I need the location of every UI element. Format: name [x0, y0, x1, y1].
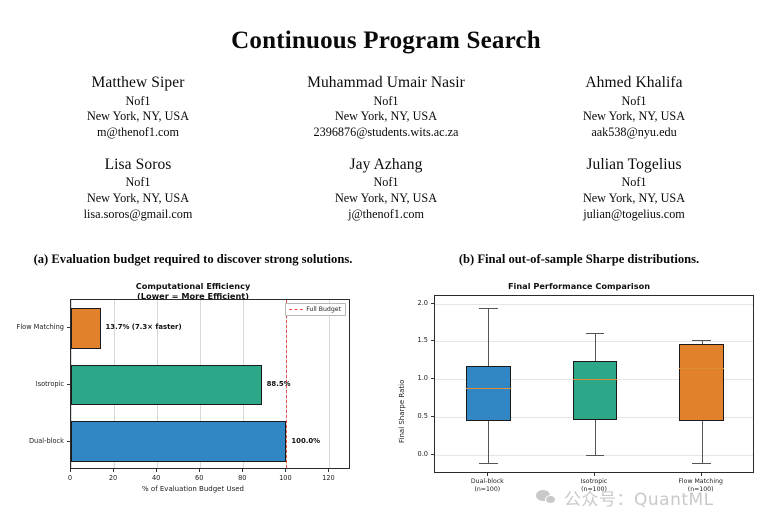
author-location: New York, NY, USA [262, 109, 510, 125]
chart-b-plot-area [434, 295, 754, 473]
chart-b-xtick [487, 473, 488, 476]
chart-a-xtick-label: 80 [238, 474, 246, 482]
chart-b-cap-lower [479, 463, 498, 464]
author-name: Julian Togelius [510, 155, 758, 175]
chart-b-whisker-lower [595, 420, 596, 455]
chart-a-ytick [67, 327, 70, 328]
author-block: Jay Azhang Nof1 New York, NY, USA j@then… [262, 155, 510, 223]
author-location: New York, NY, USA [14, 109, 262, 125]
chart-a-gridline [329, 300, 330, 468]
figure-b-caption: (b) Final out-of-sample Sharpe distribut… [386, 252, 772, 267]
chart-b-ytick [431, 303, 434, 304]
chart-a-category-label: Flow Matching [2, 323, 64, 331]
author-name: Matthew Siper [14, 73, 262, 93]
chart-b-median-line [573, 379, 618, 380]
author-name: Muhammad Umair Nasir [262, 73, 510, 93]
chart-b-category-count: (n=100) [549, 486, 639, 494]
author-affiliation: Nof1 [262, 175, 510, 191]
author-location: New York, NY, USA [262, 191, 510, 207]
author-email[interactable]: aak538@nyu.edu [510, 125, 758, 141]
chart-a-xtick-label: 40 [152, 474, 160, 482]
chart-a-bar-value-label: 13.7% (7.3× faster) [106, 323, 182, 331]
author-affiliation: Nof1 [14, 94, 262, 110]
chart-b-title: Final Performance Comparison [386, 281, 772, 291]
chart-a-xtick-label: 100 [279, 474, 292, 482]
author-block: Lisa Soros Nof1 New York, NY, USA lisa.s… [14, 155, 262, 223]
chart-b-cap-lower [692, 463, 711, 464]
chart-a-bar [71, 365, 262, 406]
author-affiliation: Nof1 [510, 94, 758, 110]
chart-b-whisker-upper [595, 333, 596, 361]
chart-b-category-name: Flow Matching [656, 478, 746, 486]
chart-a-category-label: Dual-block [2, 437, 64, 445]
chart-b-whisker-lower [702, 421, 703, 463]
chart-b-median-line [679, 368, 724, 369]
author-email[interactable]: lisa.soros@gmail.com [14, 207, 262, 223]
chart-a-legend-label: Full Budget [306, 306, 341, 313]
chart-b-ytick [431, 454, 434, 455]
chart-b-ytick-label: 2.0 [402, 299, 428, 307]
chart-a-xtick-label: 120 [322, 474, 335, 482]
figures-row: Computational Efficiency (Lower = More E… [0, 273, 772, 528]
chart-a-xtick-label: 60 [195, 474, 203, 482]
chart-a-xtick-label: 20 [109, 474, 117, 482]
chart-b-median-line [466, 388, 511, 389]
author-affiliation: Nof1 [14, 175, 262, 191]
author-list: Matthew Siper Nof1 New York, NY, USA m@t… [0, 73, 772, 222]
chart-b-category-count: (n=100) [656, 486, 746, 494]
chart-a-legend[interactable]: Full Budget [285, 303, 346, 316]
chart-b-box [466, 366, 511, 421]
chart-b-ytick-label: 1.5 [402, 336, 428, 344]
chart-b-category-name: Dual-block [442, 478, 532, 486]
author-email[interactable]: julian@togelius.com [510, 207, 758, 223]
chart-b-box [679, 344, 724, 421]
chart-b-ytick-label: 1.0 [402, 374, 428, 382]
chart-b-ytick-label: 0.5 [402, 412, 428, 420]
author-location: New York, NY, USA [510, 109, 758, 125]
author-email[interactable]: 2396876@students.wits.ac.za [262, 125, 510, 141]
chart-a-bar [71, 308, 101, 349]
chart-a-category-label: Isotropic [2, 380, 64, 388]
author-location: New York, NY, USA [510, 191, 758, 207]
chart-b-category-label: Flow Matching(n=100) [656, 478, 746, 494]
chart-b-ytick-label: 0.0 [402, 450, 428, 458]
chart-a-title-line1: Computational Efficiency [136, 281, 251, 291]
page-title: Continuous Program Search [0, 27, 772, 55]
chart-a-xtick-label: 0 [68, 474, 72, 482]
chart-b-gridline [435, 304, 753, 305]
author-block: Matthew Siper Nof1 New York, NY, USA m@t… [14, 73, 262, 141]
author-affiliation: Nof1 [262, 94, 510, 110]
author-block: Julian Togelius Nof1 New York, NY, USA j… [510, 155, 758, 223]
author-block: Muhammad Umair Nasir Nof1 New York, NY, … [262, 73, 510, 141]
figure-a-caption: (a) Evaluation budget required to discov… [0, 252, 386, 267]
chart-a-xtick [328, 469, 329, 472]
chart-b-cap-upper [692, 340, 711, 341]
chart-a-xtick [242, 469, 243, 472]
chart-b-cap-lower [586, 455, 605, 456]
author-email[interactable]: m@thenof1.com [14, 125, 262, 141]
chart-a-ytick [67, 441, 70, 442]
author-block: Ahmed Khalifa Nof1 New York, NY, USA aak… [510, 73, 758, 141]
chart-b-xtick [594, 473, 595, 476]
chart-b-cap-upper [479, 308, 498, 309]
chart-b-ytick [431, 416, 434, 417]
chart-b-ytick [431, 340, 434, 341]
author-name: Ahmed Khalifa [510, 73, 758, 93]
chart-a-xaxis-label: % of Evaluation Budget Used [0, 485, 386, 493]
chart-b-whisker-lower [488, 421, 489, 463]
chart-b-whisker-upper [488, 308, 489, 366]
chart-b-gridline [435, 341, 753, 342]
author-name: Jay Azhang [262, 155, 510, 175]
author-location: New York, NY, USA [14, 191, 262, 207]
chart-a-xtick [285, 469, 286, 472]
chart-a-ytick [67, 384, 70, 385]
chart-b-category-label: Isotropic(n=100) [549, 478, 639, 494]
chart-b-category-label: Dual-block(n=100) [442, 478, 532, 494]
chart-b-cap-upper [586, 333, 605, 334]
chart-b-category-count: (n=100) [442, 486, 532, 494]
chart-b-ytick [431, 378, 434, 379]
chart-a-bar-value-label: 100.0% [291, 437, 320, 445]
chart-b-category-name: Isotropic [549, 478, 639, 486]
author-affiliation: Nof1 [510, 175, 758, 191]
chart-a-xtick [113, 469, 114, 472]
chart-b-xtick [701, 473, 702, 476]
chart-a-bar-value-label: 88.5% [267, 380, 291, 388]
chart-a-bar [71, 421, 286, 462]
chart-a-xtick [199, 469, 200, 472]
legend-dashed-line-icon [289, 309, 303, 310]
chart-a-xtick [70, 469, 71, 472]
author-name: Lisa Soros [14, 155, 262, 175]
author-email[interactable]: j@thenof1.com [262, 207, 510, 223]
chart-a-xtick [156, 469, 157, 472]
chart-b-box [573, 361, 618, 420]
